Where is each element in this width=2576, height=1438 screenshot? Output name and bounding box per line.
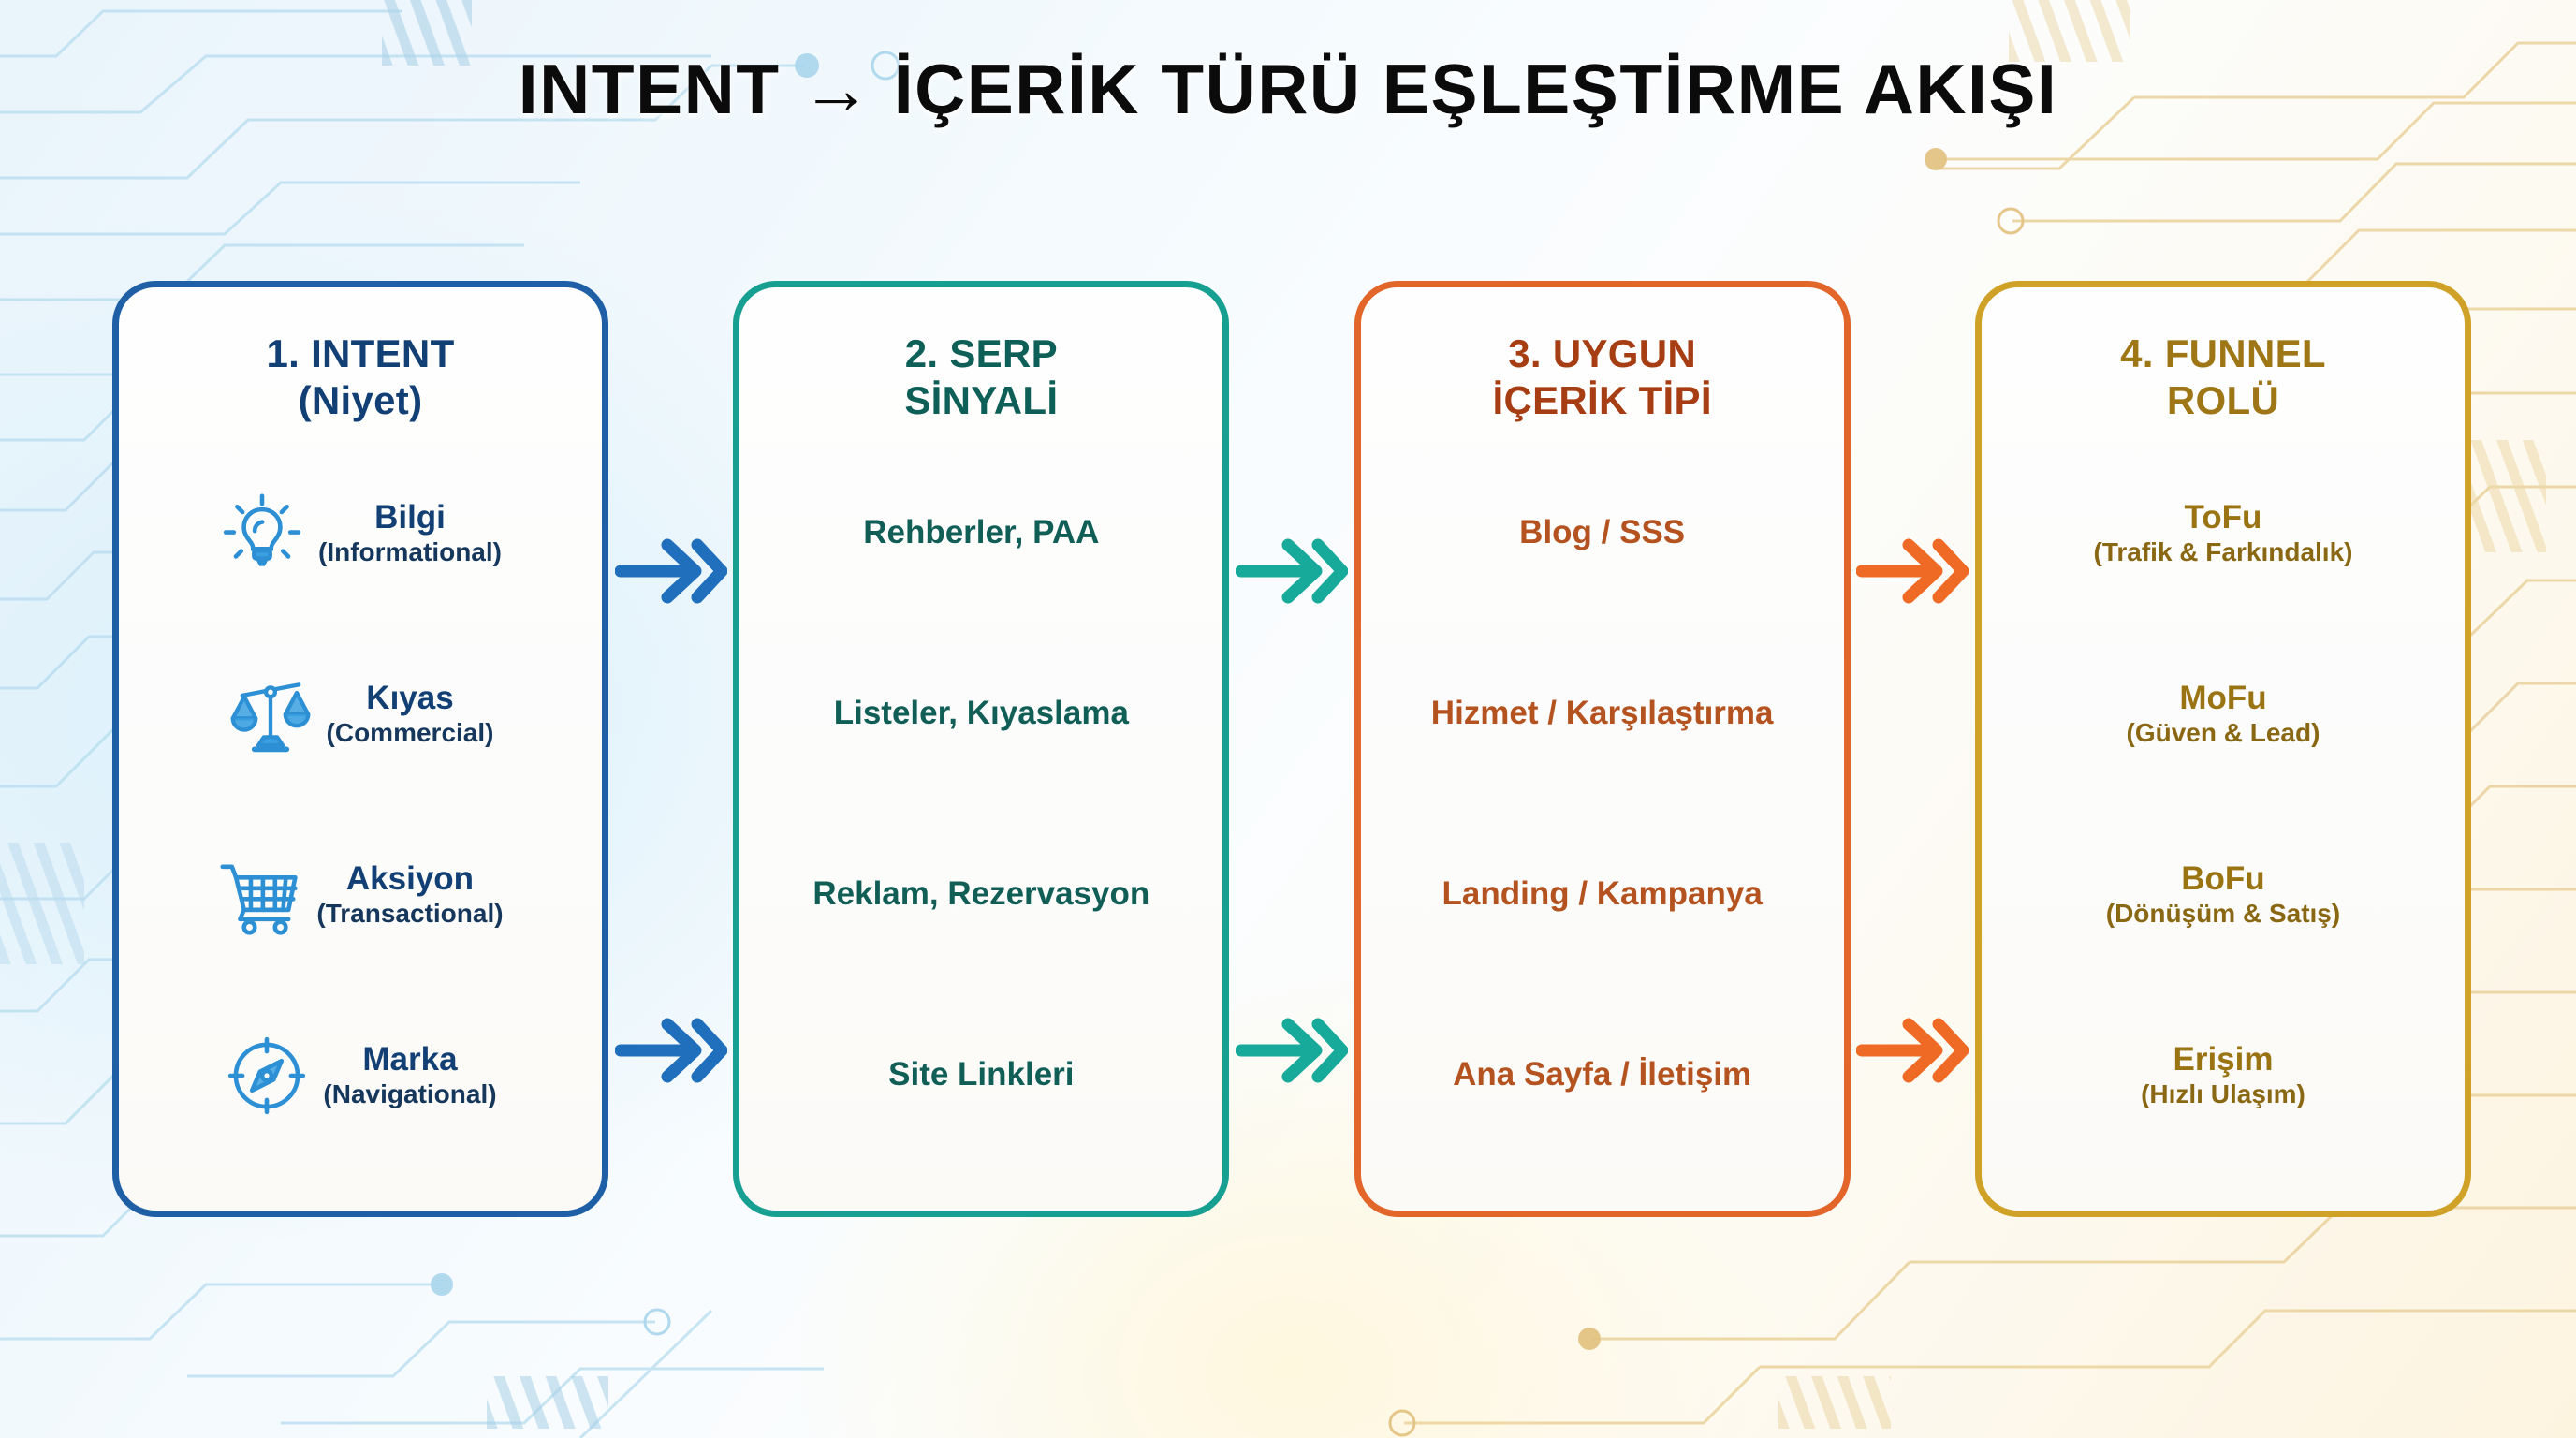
list-item-text: Aksiyon (Transactional): [316, 860, 503, 928]
list-item[interactable]: Listeler, Kıyaslama: [762, 695, 1200, 732]
list-item-text: Listeler, Kıyaslama: [834, 695, 1129, 732]
card-funnel-title-line1: 4. FUNNEL: [2120, 331, 2326, 375]
list-item-main: Reklam, Rezervasyon: [812, 875, 1149, 913]
list-item-sub: (Commercial): [327, 718, 494, 748]
list-item-text: Marka (Navigational): [323, 1041, 496, 1108]
list-item-text: Rehberler, PAA: [863, 514, 1099, 551]
arrow-content-to-funnel-top: [1856, 526, 1969, 616]
card-uygun-icerik-tipi-rows: Blog / SSS Hizmet / Karşılaştırma Landin…: [1383, 443, 1822, 1179]
card-funnel-rolu-rows: ToFu (Trafik & Farkındalık) MoFu (Güven …: [2004, 443, 2442, 1179]
list-item-sub: (Hızlı Ulaşım): [2141, 1079, 2305, 1109]
list-item[interactable]: Marka (Navigational): [141, 1033, 579, 1119]
page-title-wrap: INTENT → İÇERİK TÜRÜ EŞLEŞTİRME AKIŞI: [0, 49, 2576, 129]
card-icerik-title-line2: İÇERİK TİPİ: [1492, 378, 1711, 422]
list-item[interactable]: MoFu (Güven & Lead): [2004, 680, 2442, 747]
list-item-text: Kıyas (Commercial): [327, 680, 494, 747]
list-item[interactable]: Hizmet / Karşılaştırma: [1383, 695, 1822, 732]
list-item-main: Blog / SSS: [1519, 514, 1685, 551]
arrow-content-to-funnel-bottom: [1856, 1005, 1969, 1095]
list-item-text: ToFu (Trafik & Farkındalık): [2094, 499, 2353, 566]
hatch-decor-left: [0, 843, 84, 964]
card-uygun-icerik-tipi[interactable]: 3. UYGUN İÇERİK TİPİ Blog / SSS Hizmet /…: [1354, 281, 1851, 1217]
card-icerik-title-line1: 3. UYGUN: [1508, 331, 1696, 375]
lightbulb-icon: [219, 491, 305, 577]
page-title: INTENT → İÇERİK TÜRÜ EŞLEŞTİRME AKIŞI: [519, 49, 2057, 129]
list-item-main: Marka: [323, 1041, 496, 1078]
card-intent[interactable]: 1. INTENT (Niyet): [112, 281, 608, 1217]
list-item-main: Hizmet / Karşılaştırma: [1431, 695, 1774, 732]
card-intent-rows: Bilgi (Informational): [141, 443, 579, 1179]
card-funnel-rolu-title: 4. FUNNEL ROLÜ: [2120, 330, 2326, 435]
list-item-text: Blog / SSS: [1519, 514, 1685, 551]
scales-icon: [227, 671, 314, 757]
card-serp-sinyali-rows: Rehberler, PAA Listeler, Kıyaslama Rekla…: [762, 443, 1200, 1179]
card-intent-title-line1: 1. INTENT: [266, 331, 454, 375]
card-serp-sinyali-title: 2. SERP SİNYALİ: [904, 330, 1058, 435]
list-item-sub: (Trafik & Farkındalık): [2094, 537, 2353, 567]
list-item-sub: (Informational): [318, 537, 502, 567]
arrow-intent-to-serp-top: [615, 526, 727, 616]
list-item-main: BoFu: [2106, 860, 2340, 898]
list-item[interactable]: Reklam, Rezervasyon: [762, 875, 1200, 913]
list-item[interactable]: Kıyas (Commercial): [141, 671, 579, 757]
list-item[interactable]: ToFu (Trafik & Farkındalık): [2004, 499, 2442, 566]
shopping-cart-icon: [217, 852, 303, 938]
hatch-decor-bottom-left: [487, 1376, 608, 1429]
list-item-main: Landing / Kampanya: [1442, 875, 1763, 913]
list-item-text: MoFu (Güven & Lead): [2127, 680, 2320, 747]
card-funnel-rolu[interactable]: 4. FUNNEL ROLÜ ToFu (Trafik & Farkındalı…: [1975, 281, 2471, 1217]
list-item-main: Site Linkleri: [888, 1056, 1074, 1093]
hatch-decor-bottom-right: [1778, 1376, 1891, 1429]
card-intent-title: 1. INTENT (Niyet): [266, 330, 454, 435]
compass-icon: [224, 1033, 310, 1119]
list-item-text: Reklam, Rezervasyon: [812, 875, 1149, 913]
flow-diagram: 1. INTENT (Niyet): [112, 281, 2471, 1236]
list-item[interactable]: Rehberler, PAA: [762, 514, 1200, 551]
card-icerik-tipi-title: 3. UYGUN İÇERİK TİPİ: [1492, 330, 1711, 435]
list-item[interactable]: BoFu (Dönüşüm & Satış): [2004, 860, 2442, 928]
arrow-serp-to-content-top: [1236, 526, 1348, 616]
list-item-sub: (Transactional): [316, 899, 503, 929]
connector-gap-2: [1229, 281, 1354, 1236]
list-item-text: BoFu (Dönüşüm & Satış): [2106, 860, 2340, 928]
infographic-canvas: INTENT → İÇERİK TÜRÜ EŞLEŞTİRME AKIŞI 1.…: [0, 0, 2576, 1438]
connector-gap-3: [1851, 281, 1975, 1236]
list-item-main: Listeler, Kıyaslama: [834, 695, 1129, 732]
card-serp-title-line2: SİNYALİ: [904, 378, 1058, 422]
list-item-text: Landing / Kampanya: [1442, 875, 1763, 913]
list-item[interactable]: Aksiyon (Transactional): [141, 852, 579, 938]
list-item-sub: (Navigational): [323, 1079, 496, 1109]
list-item-text: Site Linkleri: [888, 1056, 1074, 1093]
list-item-text: Hizmet / Karşılaştırma: [1431, 695, 1774, 732]
list-item-main: Kıyas: [327, 680, 494, 717]
arrow-serp-to-content-bottom: [1236, 1005, 1348, 1095]
list-item-main: Erişim: [2141, 1041, 2305, 1078]
list-item-sub: (Dönüşüm & Satış): [2106, 899, 2340, 929]
arrow-intent-to-serp-bottom: [615, 1005, 727, 1095]
card-serp-sinyali[interactable]: 2. SERP SİNYALİ Rehberler, PAA Listeler,…: [733, 281, 1229, 1217]
list-item[interactable]: Bilgi (Informational): [141, 491, 579, 577]
list-item-main: MoFu: [2127, 680, 2320, 717]
list-item[interactable]: Landing / Kampanya: [1383, 875, 1822, 913]
list-item-main: Aksiyon: [316, 860, 503, 898]
list-item[interactable]: Blog / SSS: [1383, 514, 1822, 551]
card-intent-title-line2: (Niyet): [299, 378, 423, 422]
list-item-sub: (Güven & Lead): [2127, 718, 2320, 748]
list-item[interactable]: Ana Sayfa / İletişim: [1383, 1056, 1822, 1093]
list-item-main: ToFu: [2094, 499, 2353, 536]
list-item-text: Bilgi (Informational): [318, 499, 502, 566]
list-item-main: Rehberler, PAA: [863, 514, 1099, 551]
card-serp-title-line1: 2. SERP: [905, 331, 1058, 375]
connector-gap-1: [608, 281, 733, 1236]
list-item[interactable]: Erişim (Hızlı Ulaşım): [2004, 1041, 2442, 1108]
card-funnel-title-line2: ROLÜ: [2167, 378, 2279, 422]
list-item-main: Bilgi: [318, 499, 502, 536]
list-item-text: Erişim (Hızlı Ulaşım): [2141, 1041, 2305, 1108]
list-item-main: Ana Sayfa / İletişim: [1453, 1056, 1751, 1093]
list-item-text: Ana Sayfa / İletişim: [1453, 1056, 1751, 1093]
list-item[interactable]: Site Linkleri: [762, 1056, 1200, 1093]
